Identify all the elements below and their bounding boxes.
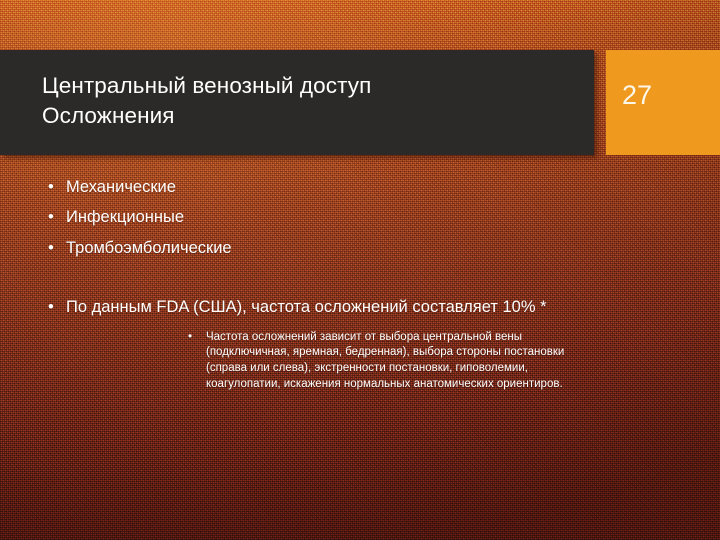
bullet-list-level1: • Механические • Инфекционные • Тромбоэм… <box>0 176 720 393</box>
bullet-list-level2: • Частота осложнений зависит от выбора ц… <box>66 330 720 393</box>
sub-bullet-item: • Частота осложнений зависит от выбора ц… <box>66 330 720 393</box>
title-band: Центральный венозный доступ Осложнения <box>0 50 594 155</box>
sub-bullet-dot-icon: • <box>188 330 192 346</box>
bullet-dot-icon: • <box>48 176 54 199</box>
slide-number: 27 <box>622 82 652 109</box>
slide-number-box: 27 <box>606 50 720 155</box>
bullet-text: Тромбоэмболические <box>66 239 232 257</box>
bullet-dot-icon: • <box>48 296 54 319</box>
bullet-item: • Тромбоэмболические <box>0 237 720 260</box>
bullet-item: • Инфекционные <box>0 206 720 229</box>
bullet-item: • Механические <box>0 176 720 199</box>
bullet-dot-icon: • <box>48 206 54 229</box>
bullet-text: Механические <box>66 178 176 196</box>
bullet-text: Инфекционные <box>66 208 184 226</box>
presentation-slide: Центральный венозный доступ Осложнения 2… <box>0 0 720 540</box>
bullet-text: По данным FDA (США), частота осложнений … <box>66 298 547 316</box>
bullet-item: • По данным FDA (США), частота осложнени… <box>0 296 720 392</box>
slide-title: Центральный венозный доступ Осложнения <box>42 71 578 131</box>
slide-body: • Механические • Инфекционные • Тромбоэм… <box>0 176 720 506</box>
sub-bullet-text: Частота осложнений зависит от выбора цен… <box>206 331 564 390</box>
bullet-dot-icon: • <box>48 237 54 260</box>
